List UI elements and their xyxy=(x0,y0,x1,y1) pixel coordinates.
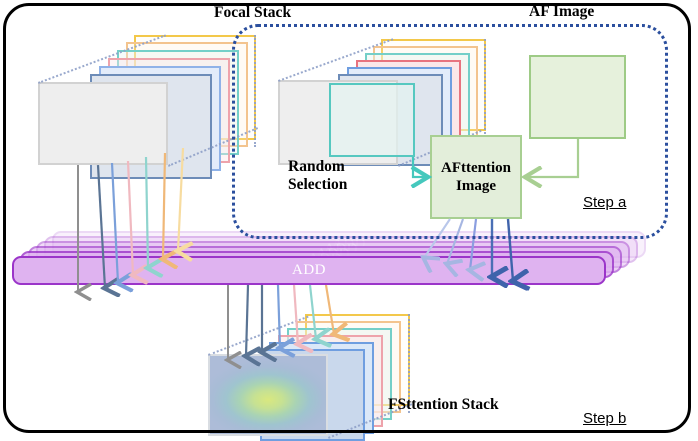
random-selection-label: Random Selection xyxy=(288,158,408,194)
fsttention-stack-title: FSttention Stack xyxy=(388,396,499,414)
focal-stack-layer-gray xyxy=(38,82,168,165)
step-a-label: Step a xyxy=(583,194,626,211)
add-bar-1: ADD xyxy=(12,256,606,285)
figure-canvas: ADD ADD ADD ADD ADD ADD AFttention Im xyxy=(0,0,698,440)
add-bar-label: ADD xyxy=(292,262,326,279)
step-b-label: Step b xyxy=(583,410,626,427)
af-image-title: AF Image xyxy=(529,3,594,21)
focal-stack-title: Focal Stack xyxy=(214,4,291,22)
fsttention-front-image xyxy=(208,354,328,436)
